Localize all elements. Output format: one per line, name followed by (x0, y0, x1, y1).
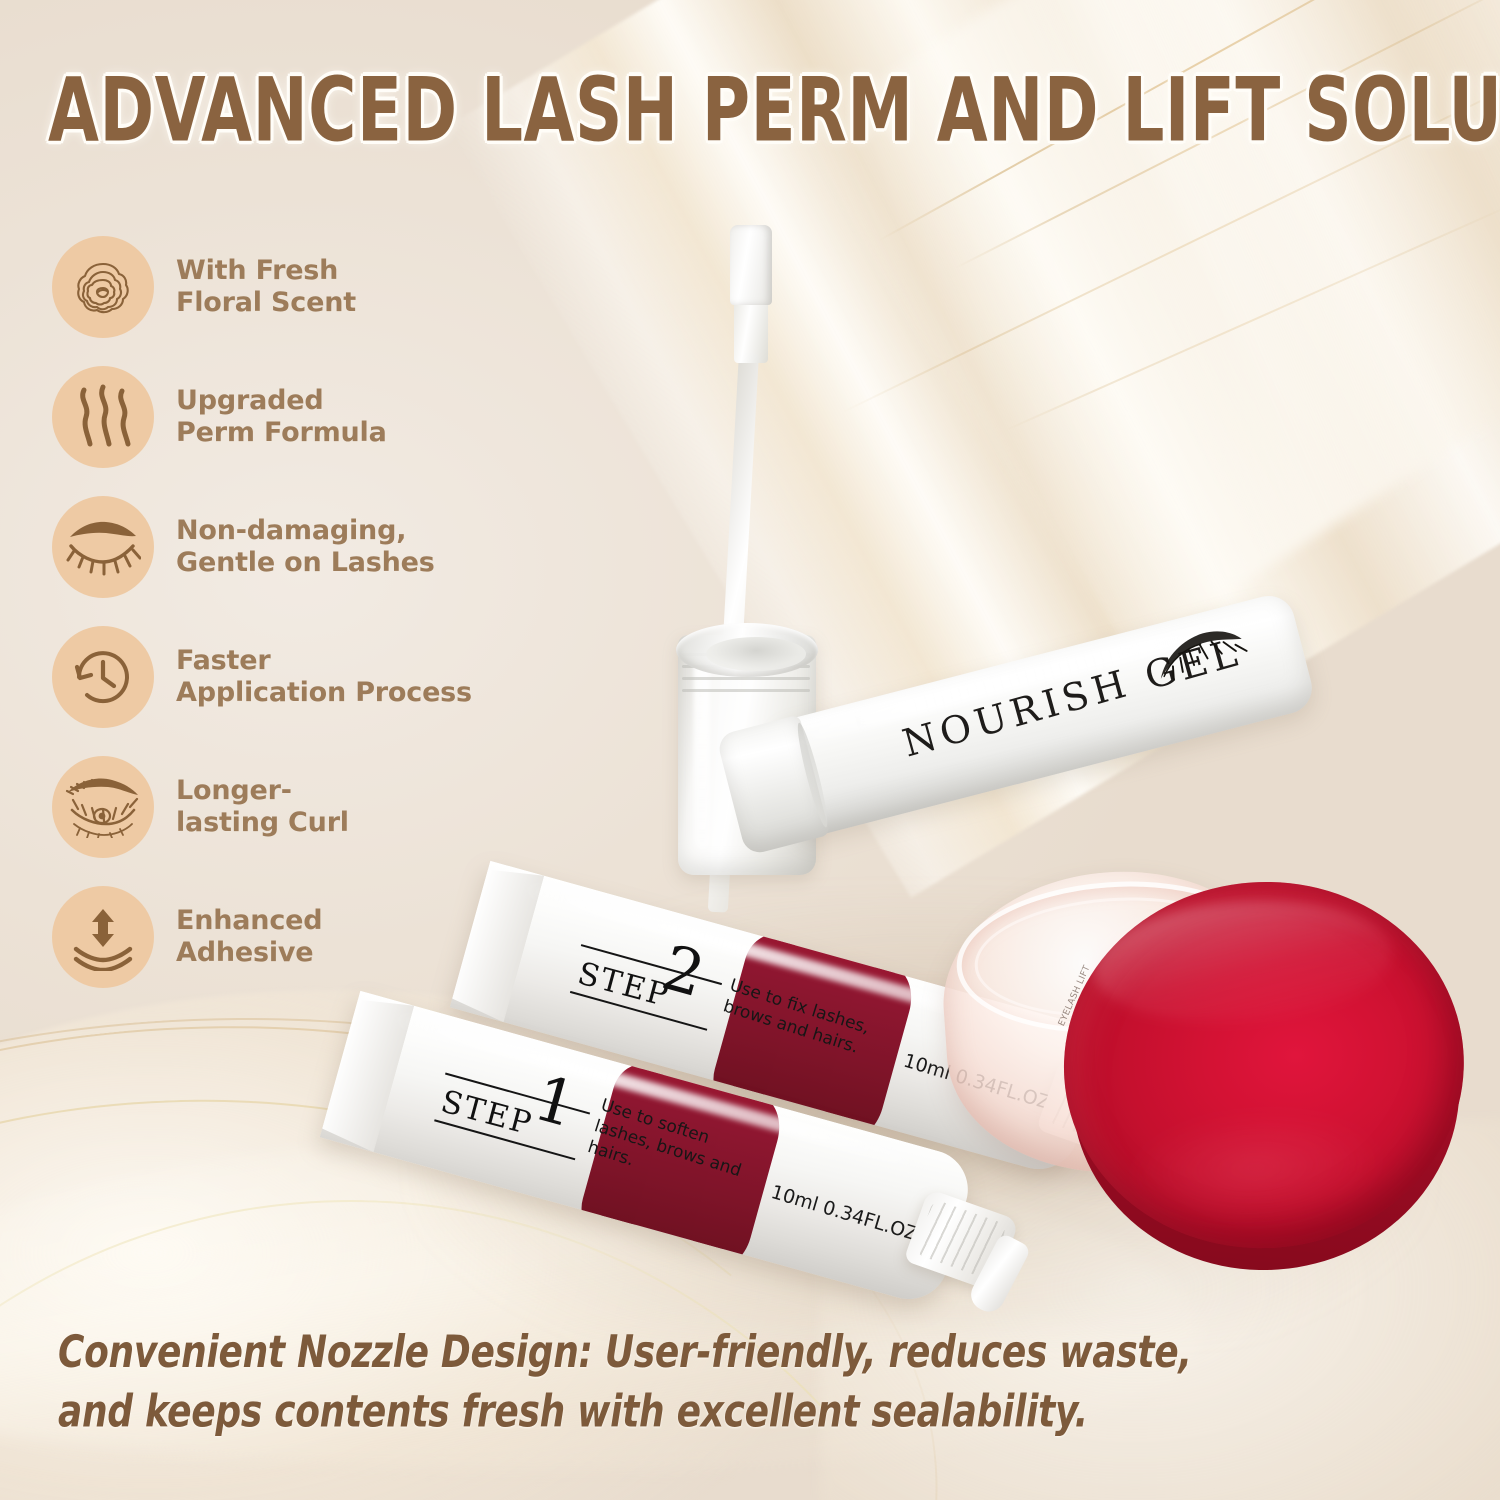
closed-eye-lash-icon (52, 496, 154, 598)
feature-item-label: With Fresh Floral Scent (176, 255, 356, 320)
hair-waves-icon (52, 366, 154, 468)
feature-item-faster-application: Faster Application Process (52, 612, 482, 742)
bottle-thread (682, 689, 810, 692)
feature-item-longer-curl: Longer- lasting Curl (52, 742, 482, 872)
feature-item-label: Longer- lasting Curl (176, 775, 349, 840)
page-title: ADVANCED LASH PERM AND LIFT SOLUTION (48, 66, 1500, 154)
feature-item-label: Upgraded Perm Formula (176, 385, 387, 450)
feature-item-non-damaging: Non-damaging, Gentle on Lashes (52, 482, 482, 612)
bottom-caption: Convenient Nozzle Design: User-friendly,… (58, 1324, 1218, 1442)
eye-brow-lash-icon (52, 756, 154, 858)
clock-rewind-icon (52, 626, 154, 728)
feature-item-enhanced-adhesive: Enhanced Adhesive (52, 872, 482, 1002)
wand-neck (734, 297, 768, 363)
feature-list: With Fresh Floral Scent Upgraded Perm Fo… (52, 222, 482, 1002)
feature-item-label: Non-damaging, Gentle on Lashes (176, 515, 435, 580)
rose-icon (52, 236, 154, 338)
product-marketing-image: ADVANCED LASH PERM AND LIFT SOLUTION Wit… (0, 0, 1500, 1500)
jar-red-lid (1052, 869, 1479, 1294)
adhesive-arrow-icon (52, 886, 154, 988)
wand-cap (730, 225, 772, 305)
feature-item-floral-scent: With Fresh Floral Scent (52, 222, 482, 352)
feature-item-label: Faster Application Process (176, 645, 472, 710)
feature-item-label: Enhanced Adhesive (176, 905, 322, 970)
feature-item-perm-formula: Upgraded Perm Formula (52, 352, 482, 482)
bottle-thread (682, 677, 810, 680)
bottle-opening (706, 637, 806, 671)
